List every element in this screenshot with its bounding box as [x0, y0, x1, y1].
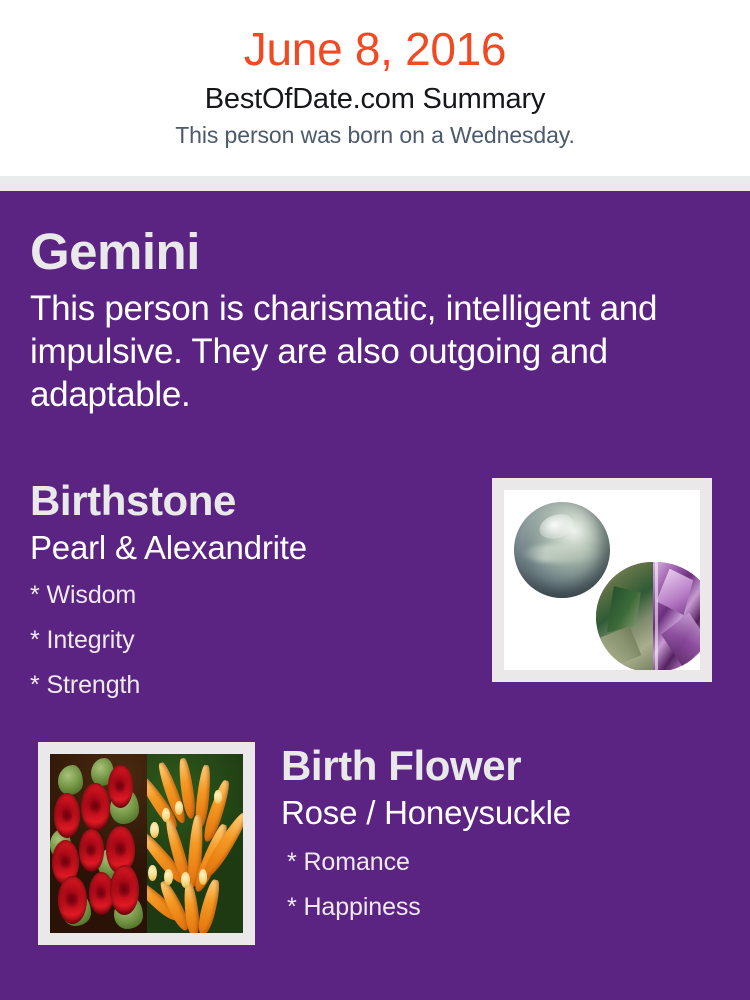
pearl-highlight-band [522, 544, 603, 563]
birth-flower-value: Rose / Honeysuckle [281, 791, 731, 832]
list-item: * Wisdom [30, 573, 470, 618]
alexandrite-gem-icon [596, 562, 700, 670]
page-title-date: June 8, 2016 [0, 0, 750, 77]
birthstone-section: Birthstone Pearl & Alexandrite * Wisdom … [30, 476, 470, 708]
header: June 8, 2016 BestOfDate.com Summary This… [0, 0, 750, 176]
birth-flower-photo [50, 754, 243, 933]
zodiac-sign-description: This person is charismatic, intelligent … [30, 287, 702, 416]
birthstone-value: Pearl & Alexandrite [30, 526, 470, 567]
roses-photo-half [50, 754, 147, 933]
born-day-text: This person was born on a Wednesday. [0, 117, 750, 150]
content-panel: Gemini This person is charismatic, intel… [0, 191, 750, 1000]
list-item: * Happiness [281, 885, 731, 930]
alexandrite-cut-half [653, 562, 700, 670]
zodiac-sign-title: Gemini [30, 223, 200, 281]
birthstone-photo-frame [492, 478, 712, 682]
birth-flower-traits-list: * Romance * Happiness [281, 832, 731, 930]
birthstone-heading: Birthstone [30, 476, 470, 526]
list-item: * Romance [281, 840, 731, 885]
alexandrite-seam [655, 562, 658, 670]
header-divider-lower [0, 184, 750, 191]
birth-flower-section: Birth Flower Rose / Honeysuckle * Romanc… [281, 741, 731, 930]
honeysuckle-photo-half [147, 754, 244, 933]
infographic-page: June 8, 2016 BestOfDate.com Summary This… [0, 0, 750, 1000]
alexandrite-rough-half [596, 562, 657, 670]
birth-flower-photo-frame [38, 742, 255, 945]
list-item: * Integrity [30, 618, 470, 663]
birthstone-traits-list: * Wisdom * Integrity * Strength [30, 567, 470, 708]
header-divider-upper [0, 176, 750, 184]
birth-flower-heading: Birth Flower [281, 741, 731, 791]
site-summary-label: BestOfDate.com Summary [0, 77, 750, 117]
birthstone-photo [504, 490, 700, 670]
list-item: * Strength [30, 663, 470, 708]
